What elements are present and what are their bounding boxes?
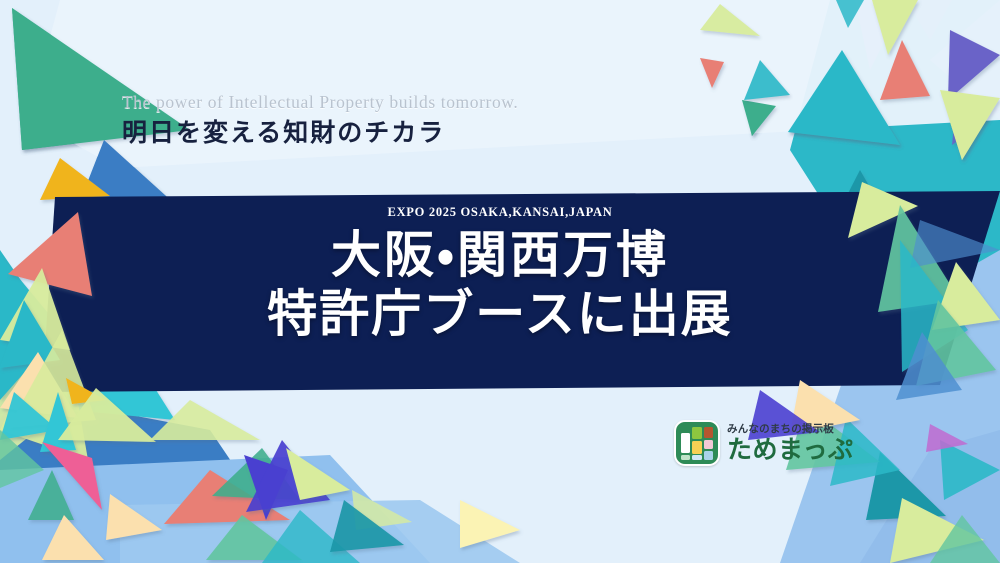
- tamemap-bulletin-board-icon: [674, 420, 720, 466]
- banner-title: 大阪・関西万博 特許庁ブースに出展: [0, 225, 1000, 343]
- poster-canvas: The power of Intellectual Property build…: [0, 0, 1000, 563]
- logo-tile-4: [704, 440, 713, 449]
- tamemap-logo[interactable]: みんなのまちの掲示板 ためまっぷ: [674, 420, 854, 466]
- logo-tile-0: [681, 433, 690, 453]
- logo-tile-2: [692, 441, 702, 454]
- logo-tile-1: [692, 427, 702, 439]
- logo-subtitle: みんなのまちの掲示板: [727, 424, 854, 435]
- tagline-english: The power of Intellectual Property build…: [122, 92, 518, 114]
- banner-kicker: EXPO 2025 OSAKA,KANSAI,JAPAN: [0, 206, 1000, 219]
- banner-title-line2: 特許庁ブースに出展: [0, 284, 1000, 343]
- logo-name: ためまっぷ: [727, 437, 854, 462]
- logo-tile-7: [704, 451, 713, 460]
- logo-tile-6: [692, 455, 702, 460]
- tagline-japanese: 明日を変える知財のチカラ: [122, 117, 518, 148]
- logo-wordmark: みんなのまちの掲示板 ためまっぷ: [727, 424, 854, 463]
- tagline-block: The power of Intellectual Property build…: [122, 92, 518, 148]
- logo-tile-5: [681, 455, 690, 460]
- logo-tile-3: [704, 427, 713, 438]
- banner-title-line1: 大阪・関西万博: [0, 225, 1000, 284]
- banner-text-block: EXPO 2025 OSAKA,KANSAI,JAPAN 大阪・関西万博 特許庁…: [0, 206, 1000, 343]
